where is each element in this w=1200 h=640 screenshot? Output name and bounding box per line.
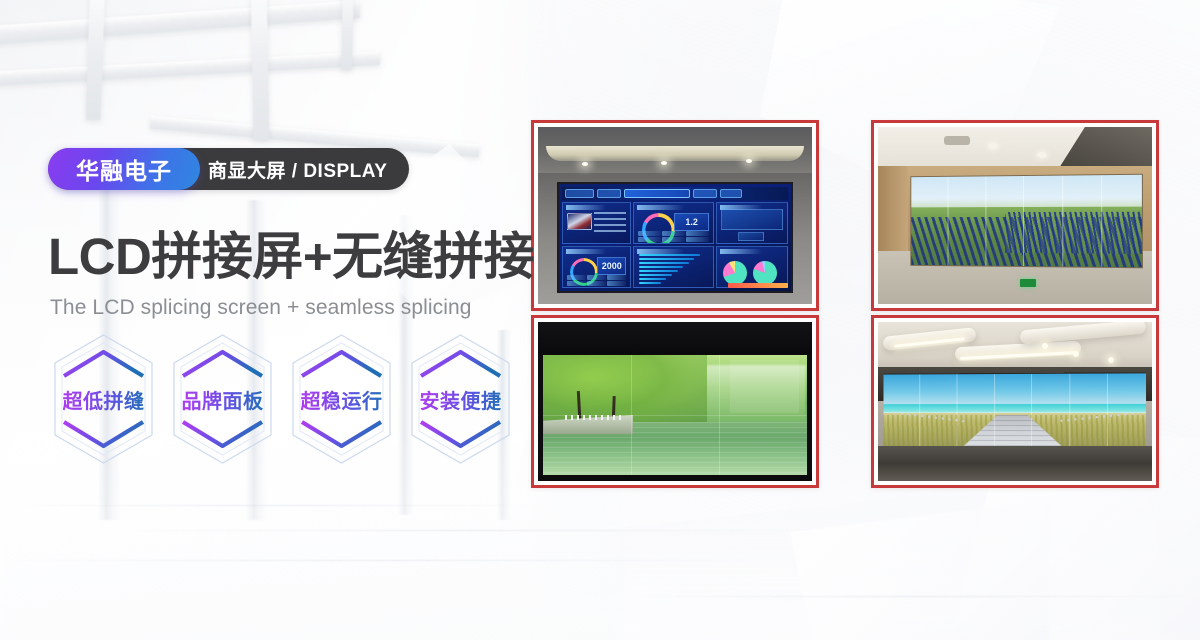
photo-image-lobby-beach-wall	[878, 322, 1152, 481]
page-subtitle: The LCD splicing screen + seamless splic…	[50, 296, 472, 320]
page-title: LCD拼接屏+无缝拼接	[48, 229, 534, 285]
video-wall-solar-farm	[910, 174, 1142, 269]
brand-badge: 商显大屏 / DISPLAY 华融电子	[48, 148, 409, 190]
gallery-photo-top-left[interactable]: 1.2 2000	[531, 120, 819, 311]
category-badge-label: 商显大屏 / DISPLAY	[208, 156, 387, 183]
video-wall-beach	[883, 372, 1146, 450]
floor-reflection-line	[640, 596, 1200, 597]
banner-stage: 商显大屏 / DISPLAY 华融电子 LCD拼接屏+无缝拼接 The LCD …	[0, 0, 1200, 640]
dashboard-stat-value-2: 2000	[597, 257, 626, 275]
gallery-photo-bottom-left[interactable]	[531, 315, 819, 488]
photo-image-willow-lake-wall	[538, 322, 812, 481]
video-wall-landscape	[543, 355, 806, 474]
gallery-photo-top-right[interactable]	[871, 120, 1159, 311]
photo-image-wood-room-solar-wall	[878, 127, 1152, 304]
gallery-photo-bottom-right[interactable]	[871, 315, 1159, 488]
brand-name-label: 华融电子	[76, 152, 172, 186]
feature-badge-3[interactable]: 安装便捷	[405, 330, 516, 468]
photo-image-dashboard-room: 1.2 2000	[538, 127, 812, 304]
feature-badge-2[interactable]: 超稳运行	[286, 330, 397, 468]
video-wall-dashboard: 1.2 2000	[557, 182, 793, 294]
feature-badge-row: 超低拼缝 品牌面板	[48, 330, 516, 468]
exit-sign-icon	[1020, 279, 1036, 287]
feature-badge-0[interactable]: 超低拼缝	[48, 330, 159, 468]
brand-name-pill: 华融电子	[48, 148, 200, 190]
left-content-column: 商显大屏 / DISPLAY 华融电子 LCD拼接屏+无缝拼接 The LCD …	[48, 0, 548, 640]
feature-badge-label: 超稳运行	[301, 385, 383, 414]
calendar-overlay	[730, 360, 798, 412]
feature-badge-1[interactable]: 品牌面板	[167, 330, 278, 468]
feature-badge-label: 品牌面板	[182, 385, 264, 414]
feature-badge-label: 安装便捷	[420, 385, 502, 414]
dashboard-stat-value: 1.2	[674, 213, 709, 231]
feature-badge-label: 超低拼缝	[63, 385, 145, 414]
